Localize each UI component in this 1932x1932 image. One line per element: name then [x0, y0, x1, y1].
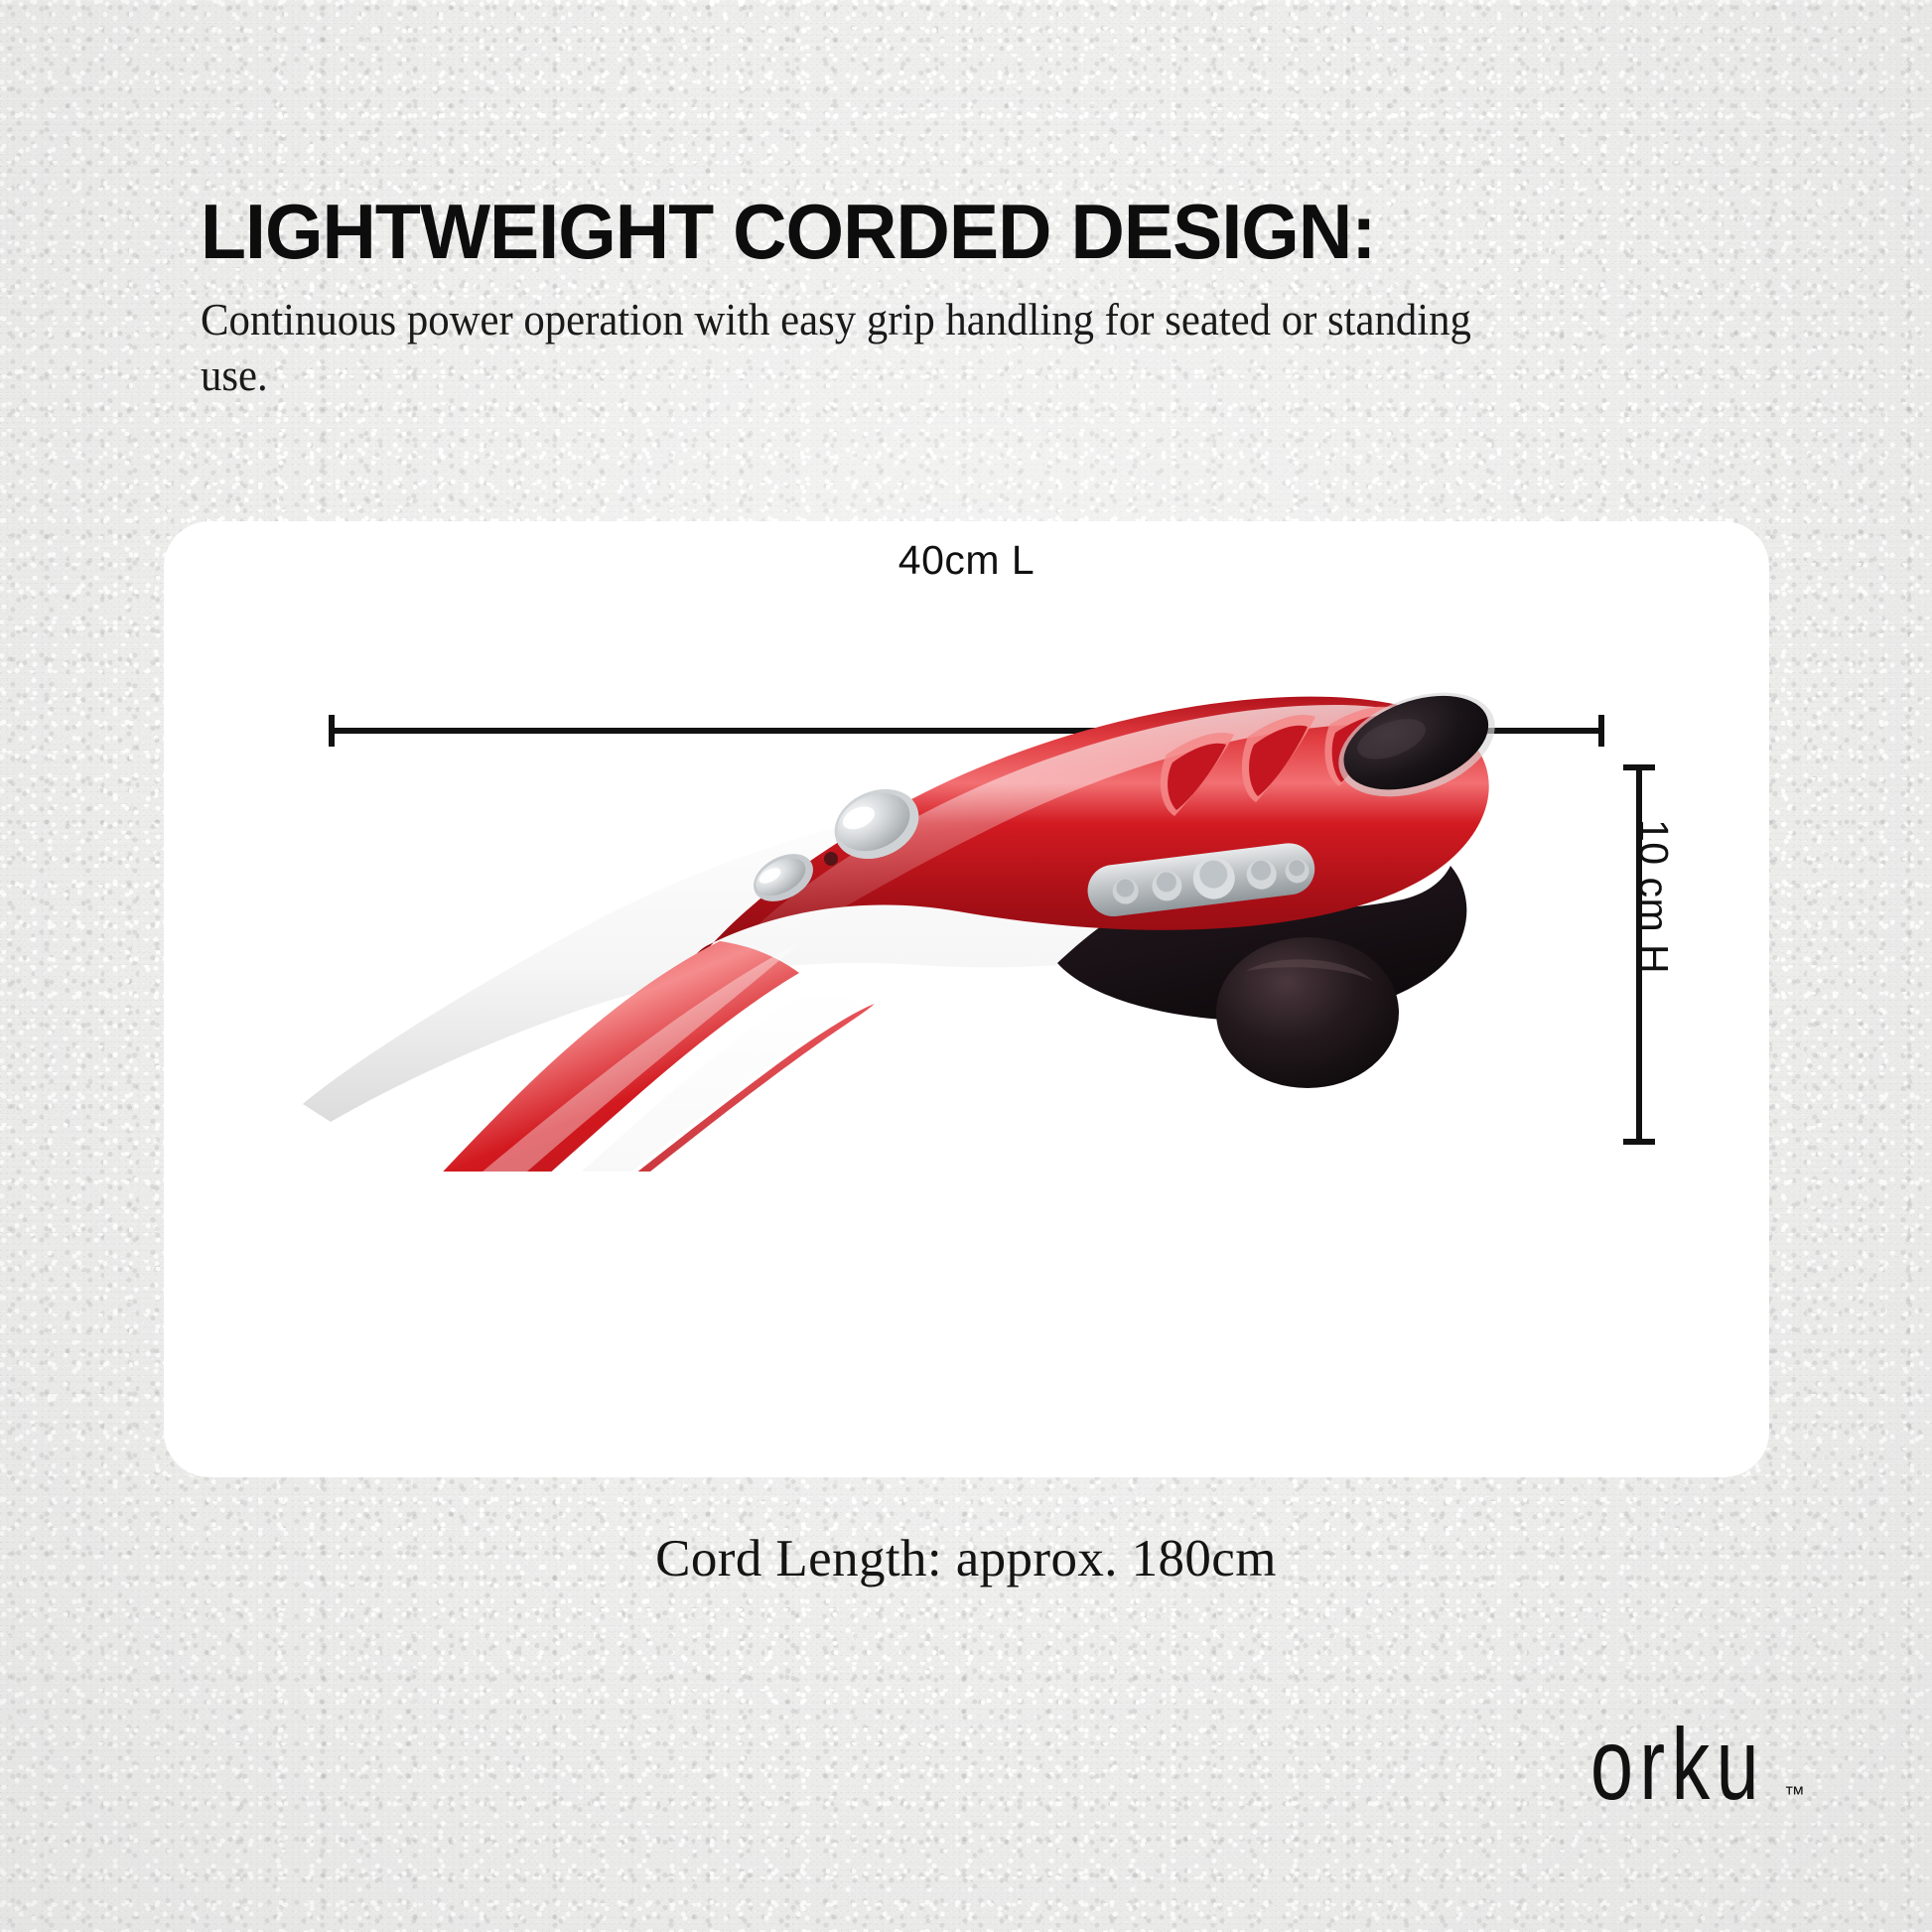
product-image [164, 596, 1769, 1172]
page-subtitle: Continuous power operation with easy gri… [201, 292, 1502, 403]
length-dimension-label: 40cm L [164, 537, 1769, 584]
massager-illustration [164, 596, 1769, 1172]
product-card: 40cm L 10 cm H [164, 521, 1769, 1477]
cord-length-caption: Cord Length: approx. 180cm [0, 1529, 1932, 1588]
brand-logo: orku ™ [1590, 1731, 1805, 1815]
brand-name: orku [1590, 1714, 1765, 1815]
trademark-symbol: ™ [1784, 1783, 1805, 1807]
page-title: LIGHTWEIGHT CORDED DESIGN: [201, 189, 1695, 274]
led-indicator [824, 852, 838, 866]
header-block: LIGHTWEIGHT CORDED DESIGN: Continuous po… [201, 189, 1749, 403]
